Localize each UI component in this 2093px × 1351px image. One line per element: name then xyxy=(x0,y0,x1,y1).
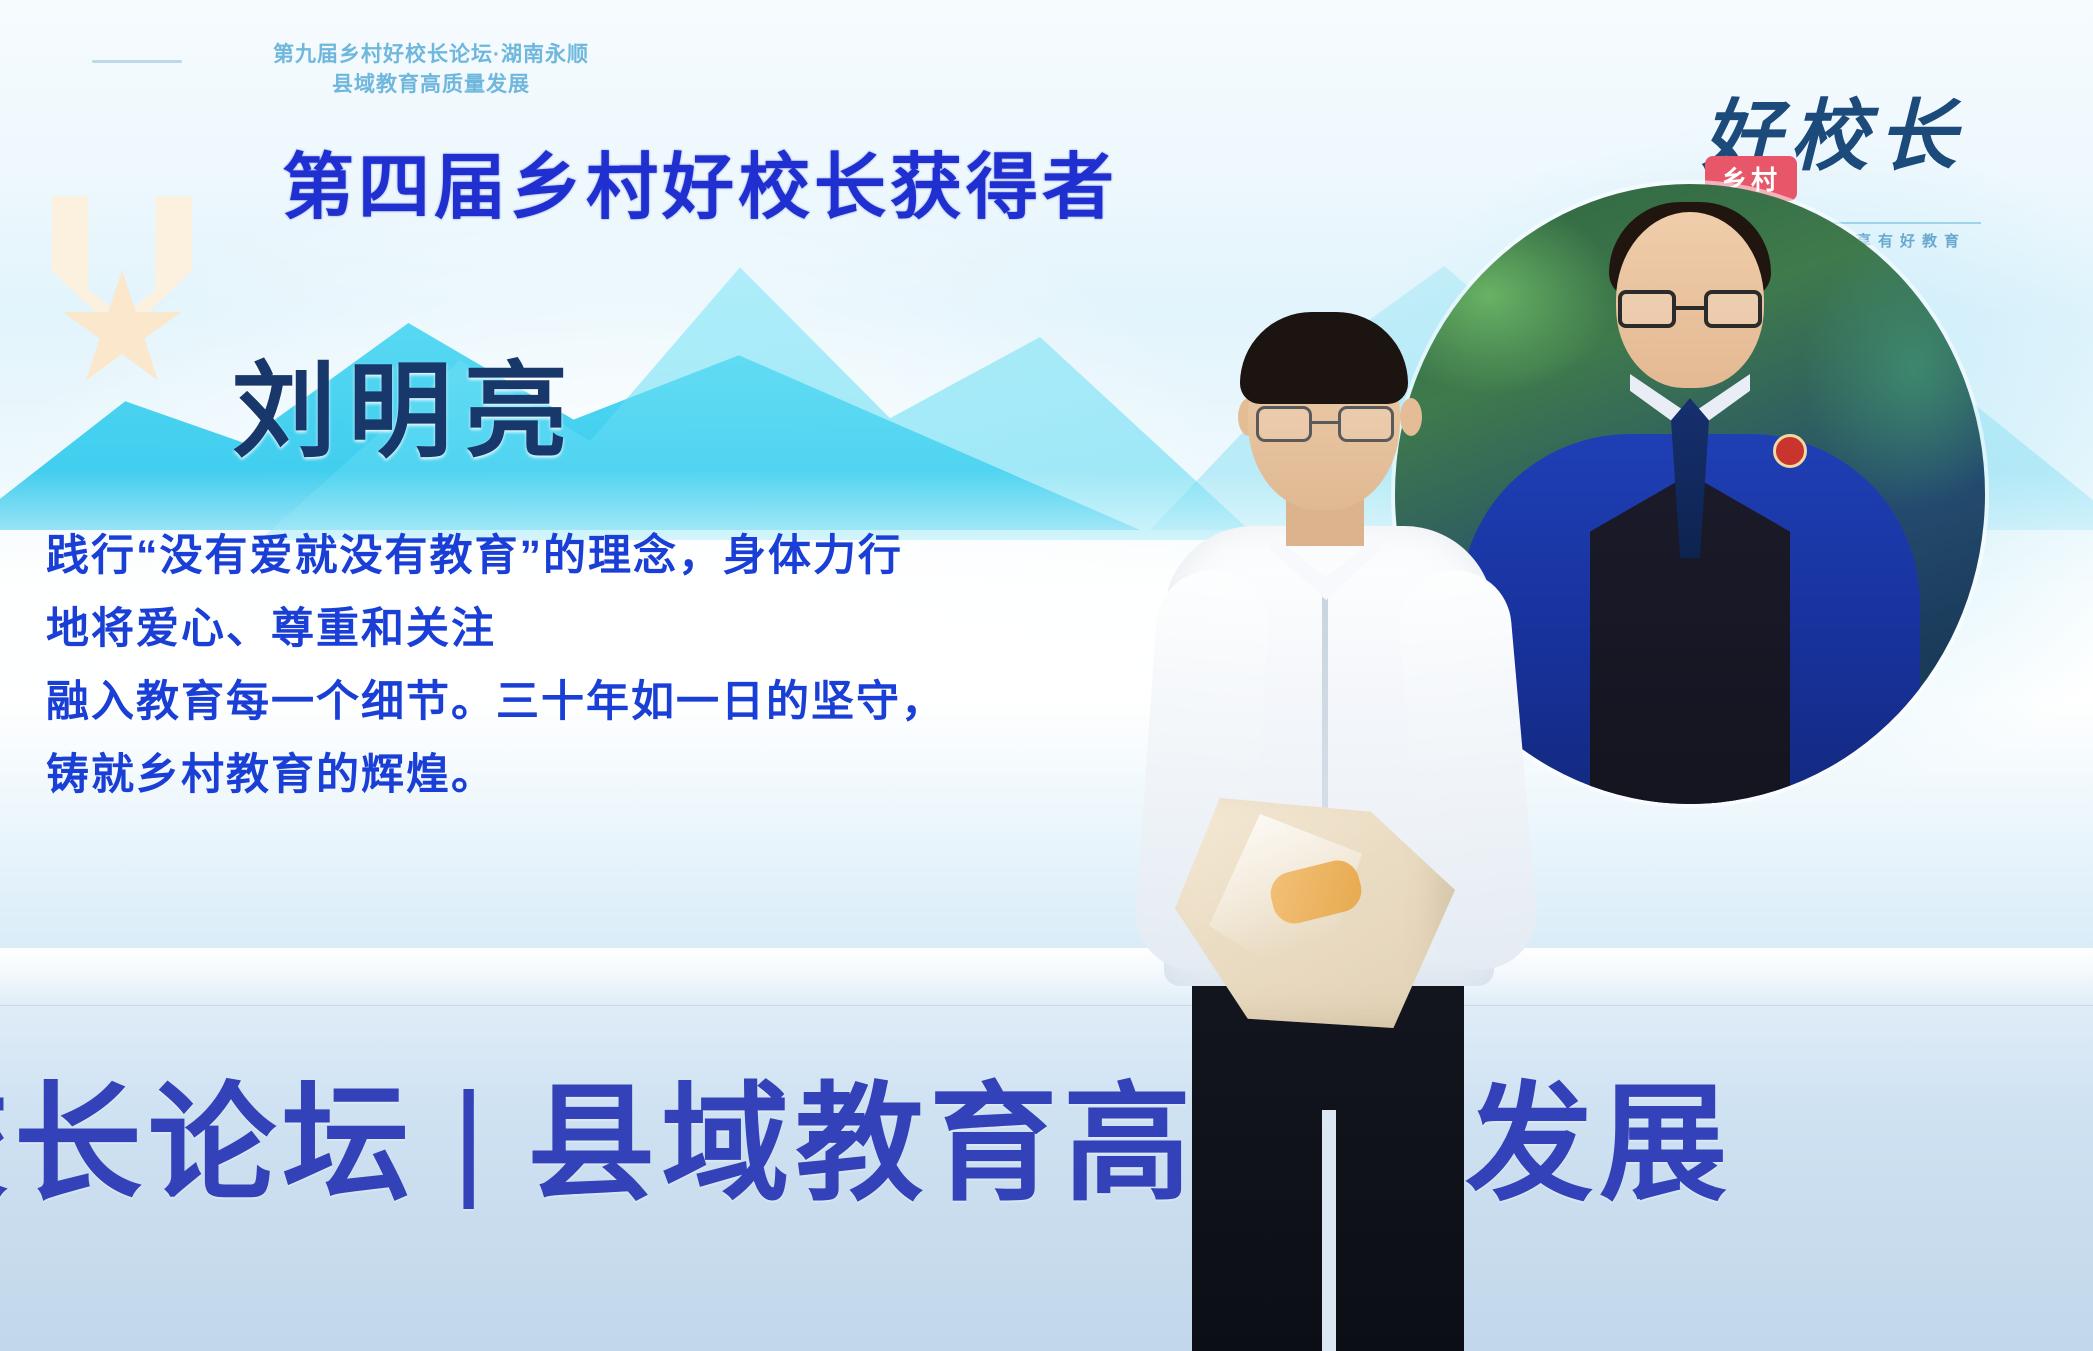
presenter-glasses-bridge xyxy=(1312,421,1338,424)
led-screen-backdrop: 第九届乡村好校长论坛·湖南永顺 县域教育高质量发展 好校长 乡村 让每个乡村孩子… xyxy=(0,0,2093,950)
header-rule xyxy=(92,60,182,63)
banner-separator: | xyxy=(452,1065,491,1212)
presenter-leg-separation xyxy=(1322,1110,1336,1351)
presenter-right-ear xyxy=(1400,398,1422,436)
award-citation: 践行“没有爱就没有教育”的理念，身体力行 地将爱心、尊重和关注 融入教育每一个细… xyxy=(46,520,1166,812)
presenter-glasses-icon xyxy=(1256,406,1394,446)
winner-name: 刘明亮 xyxy=(232,360,580,464)
citation-line-4: 铸就乡村教育的辉煌。 xyxy=(46,739,1166,812)
presenter-glasses-right-lens xyxy=(1338,406,1394,442)
event-header-line2: 县域教育高质量发展 xyxy=(196,70,666,100)
citation-line-3: 融入教育每一个细节。三十年如一日的坚守， xyxy=(46,666,1166,739)
presenter-glasses-left-lens xyxy=(1256,406,1312,442)
award-title: 第四届乡村好校长获得者 xyxy=(0,128,1400,233)
portrait-lapel-pin xyxy=(1773,434,1807,468)
portrait-glasses-icon xyxy=(1618,290,1762,330)
event-header-line1: 第九届乡村好校长论坛·湖南永顺 xyxy=(273,43,589,66)
citation-line-2: 地将爱心、尊重和关注 xyxy=(46,593,1166,666)
presenter-hair xyxy=(1240,312,1408,404)
stage-ledge xyxy=(0,948,2093,1006)
medal-ribbon-icon xyxy=(52,196,192,386)
citation-line-1: 践行“没有爱就没有教育”的理念，身体力行 xyxy=(46,520,1166,593)
portrait-glasses-left-lens xyxy=(1618,290,1676,328)
banner-left-text: 校长论坛 xyxy=(0,1073,416,1216)
award-ceremony-scene: 第九届乡村好校长论坛·湖南永顺 县域教育高质量发展 好校长 乡村 让每个乡村孩子… xyxy=(0,0,2093,1351)
bouquet-icon xyxy=(1175,770,1475,1050)
event-header: 第九届乡村好校长论坛·湖南永顺 县域教育高质量发展 xyxy=(196,40,666,100)
portrait-glasses-right-lens xyxy=(1704,290,1762,328)
portrait-glasses-bridge xyxy=(1676,306,1704,310)
stage-banner-text: 校长论坛|县域教育高质量发展 xyxy=(0,1040,2093,1225)
